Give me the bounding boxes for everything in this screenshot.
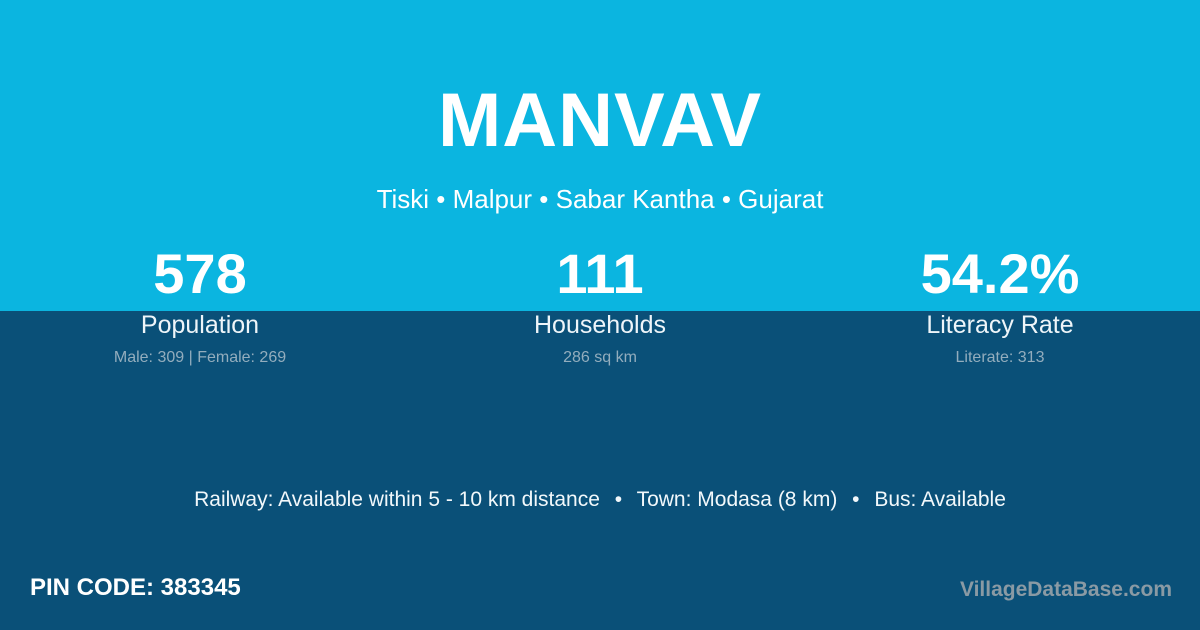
amenity-bus: Bus: Available <box>874 488 1006 511</box>
amenity-railway: Railway: Available within 5 - 10 km dist… <box>194 488 600 511</box>
literacy-rate-label: Literacy Rate <box>800 310 1200 340</box>
stat-literacy-rate: 54.2% Literacy Rate Literate: 313 <box>800 243 1200 368</box>
population-label: Population <box>0 310 400 340</box>
households-label: Households <box>400 310 800 340</box>
site-watermark: VillageDataBase.com <box>960 576 1172 604</box>
amenity-town: Town: Modasa (8 km) <box>637 488 838 511</box>
pin-code-label: PIN CODE: 383345 <box>30 572 241 604</box>
amenity-separator-icon: • <box>606 486 631 514</box>
village-info-card: MANVAV Tiski • Malpur • Sabar Kantha • G… <box>0 0 1200 630</box>
population-value: 578 <box>0 243 400 305</box>
literate-count: Literate: 313 <box>800 348 1200 368</box>
stat-population: 578 Population Male: 309 | Female: 269 <box>0 243 400 368</box>
village-name-title: MANVAV <box>0 78 1200 164</box>
card-footer: PIN CODE: 383345 VillageDataBase.com <box>0 572 1200 614</box>
area-value: 286 sq km <box>400 348 800 368</box>
stat-households: 111 Households 286 sq km <box>400 243 800 368</box>
location-breadcrumb: Tiski • Malpur • Sabar Kantha • Gujarat <box>0 183 1200 215</box>
households-value: 111 <box>400 243 800 305</box>
amenity-separator-icon: • <box>843 486 868 514</box>
population-breakdown: Male: 309 | Female: 269 <box>0 348 400 368</box>
statistics-row: 578 Population Male: 309 | Female: 269 1… <box>0 243 1200 368</box>
amenities-line: Railway: Available within 5 - 10 km dist… <box>0 486 1200 514</box>
literacy-rate-value: 54.2% <box>800 243 1200 305</box>
